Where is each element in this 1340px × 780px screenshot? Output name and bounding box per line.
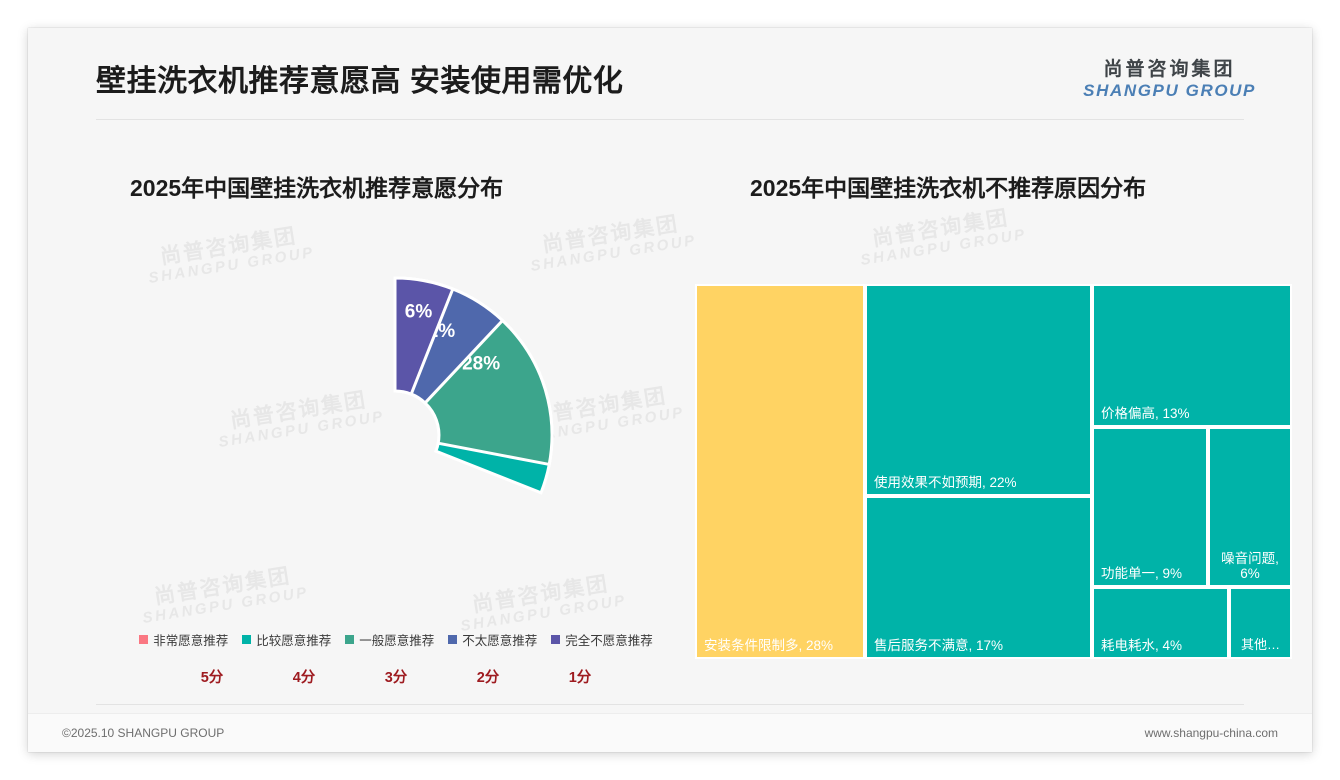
legend-item[interactable]: 比较愿意推荐 (242, 630, 331, 649)
watermark-cn: 尚普咨询集团 (144, 223, 313, 271)
score-scale-row: 5分4分3分2分1分 (96, 666, 696, 687)
slide-footer: ©2025.10 SHANGPU GROUP www.shangpu-china… (28, 713, 1312, 752)
treemap-tile[interactable]: 其他… (1229, 587, 1292, 659)
donut-svg: 23%31%28%12%6% (230, 270, 560, 600)
legend-item[interactable]: 非常愿意推荐 (139, 630, 228, 649)
legend-item-label: 一般愿意推荐 (359, 630, 434, 649)
treemap-tile-label: 价格偏高, 13% (1101, 406, 1285, 421)
treemap-tile[interactable]: 价格偏高, 13% (1092, 284, 1292, 427)
score-label: 1分 (565, 666, 595, 687)
watermark: 尚普咨询集团 SHANGPU GROUP (856, 205, 1028, 269)
treemap-tile-label: 其他… (1234, 638, 1287, 653)
score-label: 2分 (473, 666, 503, 687)
donut-legend: 非常愿意推荐比较愿意推荐一般愿意推荐不太愿意推荐完全不愿意推荐 (96, 630, 696, 649)
brand-logo-en: SHANGPU GROUP (1083, 82, 1256, 100)
brand-logo-cn: 尚普咨询集团 (1083, 60, 1256, 81)
score-label: 5分 (197, 666, 227, 687)
watermark-cn: 尚普咨询集团 (856, 205, 1025, 253)
treemap-tile[interactable]: 售后服务不满意, 17% (865, 496, 1092, 659)
legend-item-label: 完全不愿意推荐 (565, 630, 653, 649)
treemap-tile-label: 噪音问题, 6% (1213, 551, 1287, 581)
legend-swatch-icon (139, 635, 148, 644)
chart-title-treemap: 2025年中国壁挂洗衣机不推荐原因分布 (750, 169, 1146, 203)
donut-slice-label: 6% (405, 302, 433, 323)
treemap-tile-label: 功能单一, 9% (1101, 566, 1201, 581)
legend-item-label: 不太愿意推荐 (462, 630, 537, 649)
treemap-tile[interactable]: 耗电耗水, 4% (1092, 587, 1229, 659)
brand-logo: 尚普咨询集团 SHANGPU GROUP (1083, 60, 1256, 100)
legend-item[interactable]: 一般愿意推荐 (345, 630, 434, 649)
treemap-tile-label: 售后服务不满意, 17% (874, 638, 1085, 653)
watermark-cn: 尚普咨询集团 (526, 211, 695, 259)
legend-swatch-icon (551, 635, 560, 644)
treemap-tile[interactable]: 安装条件限制多, 28% (695, 284, 865, 659)
chart-title-donut: 2025年中国壁挂洗衣机推荐意愿分布 (130, 169, 503, 203)
treemap-tile[interactable]: 噪音问题, 6% (1208, 427, 1292, 587)
legend-swatch-icon (345, 635, 354, 644)
watermark-en: SHANGPU GROUP (530, 233, 698, 275)
footer-website[interactable]: www.shangpu-china.com (1145, 726, 1278, 740)
recommend-willingness-donut: 23%31%28%12%6% (230, 270, 560, 600)
legend-swatch-icon (242, 635, 251, 644)
watermark: 尚普咨询集团 SHANGPU GROUP (526, 211, 698, 275)
legend-item[interactable]: 完全不愿意推荐 (551, 630, 653, 649)
treemap-tile-label: 安装条件限制多, 28% (704, 638, 858, 653)
score-label: 4分 (289, 666, 319, 687)
footer-copyright: ©2025.10 SHANGPU GROUP (62, 726, 224, 740)
legend-item-label: 非常愿意推荐 (153, 630, 228, 649)
header-divider (96, 119, 1244, 120)
treemap-tile-label: 使用效果不如预期, 22% (874, 475, 1085, 490)
legend-item[interactable]: 不太愿意推荐 (448, 630, 537, 649)
legend-swatch-icon (448, 635, 457, 644)
treemap-tile[interactable]: 使用效果不如预期, 22% (865, 284, 1092, 496)
slide-canvas: 尚普咨询集团 SHANGPU GROUP 尚普咨询集团 SHANGPU GROU… (28, 28, 1312, 752)
treemap-tile[interactable]: 功能单一, 9% (1092, 427, 1208, 587)
watermark-en: SHANGPU GROUP (860, 227, 1028, 269)
treemap-tile-label: 耗电耗水, 4% (1101, 638, 1222, 653)
legend-item-label: 比较愿意推荐 (256, 630, 331, 649)
non-recommend-reasons-treemap: 安装条件限制多, 28%使用效果不如预期, 22%售后服务不满意, 17%价格偏… (695, 284, 1292, 659)
score-label: 3分 (381, 666, 411, 687)
slide-header: 壁挂洗衣机推荐意愿高 安装使用需优化 尚普咨询集团 SHANGPU GROUP (28, 28, 1312, 120)
page-title: 壁挂洗衣机推荐意愿高 安装使用需优化 (96, 56, 623, 100)
